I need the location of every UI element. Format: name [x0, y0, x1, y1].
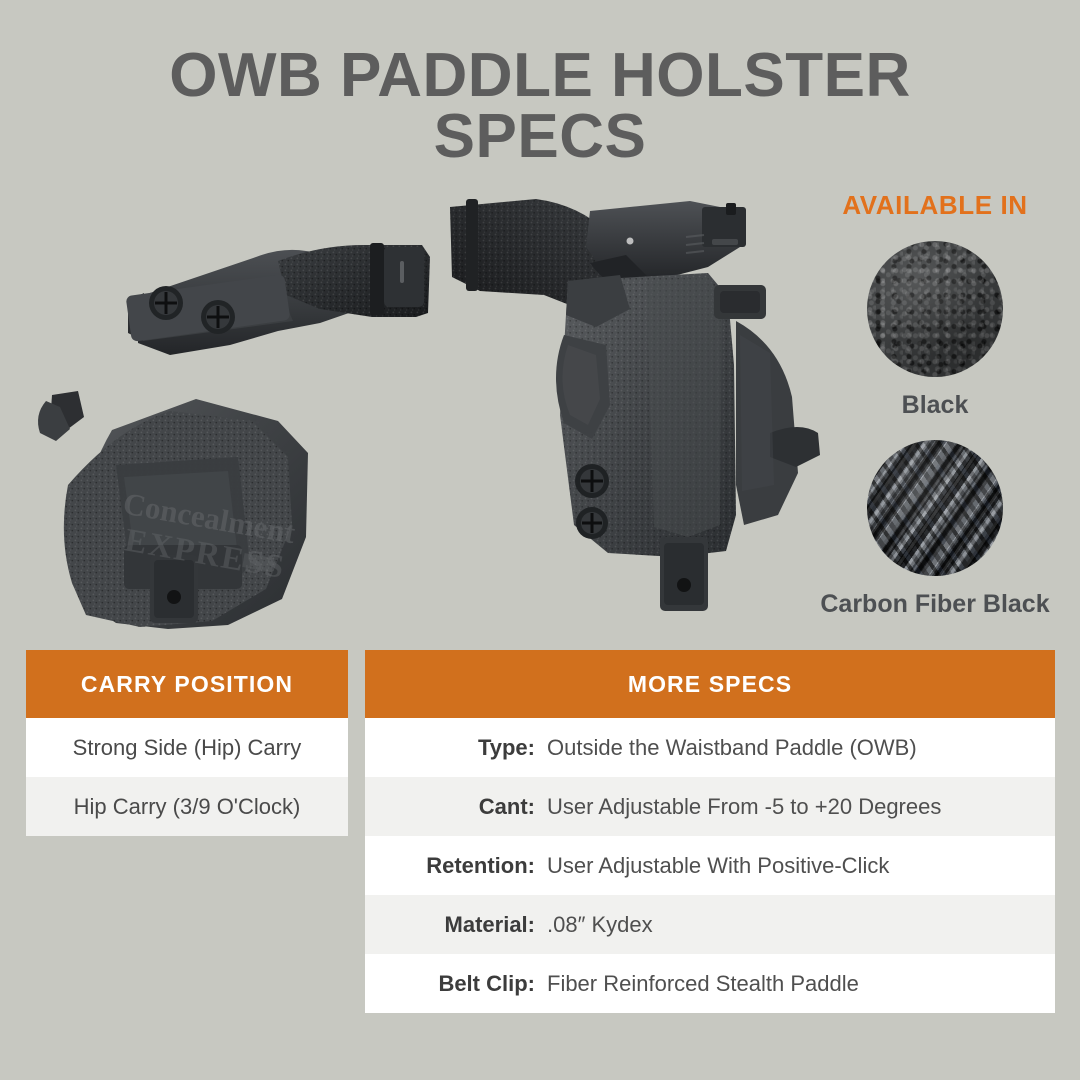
carry-position-header: CARRY POSITION	[26, 650, 348, 718]
table-row: Belt Clip: Fiber Reinforced Stealth Padd…	[365, 954, 1055, 1013]
table-row: Material: .08″ Kydex	[365, 895, 1055, 954]
more-specs-table: MORE SPECS Type: Outside the Waistband P…	[365, 650, 1055, 1013]
spec-key: Cant:	[365, 794, 547, 820]
spec-value: Fiber Reinforced Stealth Paddle	[547, 971, 1055, 997]
spec-value: .08″ Kydex	[547, 912, 1055, 938]
carry-position-value: Hip Carry (3/9 O'Clock)	[74, 794, 301, 820]
spec-value: User Adjustable With Positive-Click	[547, 853, 1055, 879]
table-row: Hip Carry (3/9 O'Clock)	[26, 777, 348, 836]
table-row: Type: Outside the Waistband Paddle (OWB)	[365, 718, 1055, 777]
spec-value: Outside the Waistband Paddle (OWB)	[547, 735, 1055, 761]
spec-key: Belt Clip:	[365, 971, 547, 997]
table-row: Strong Side (Hip) Carry	[26, 718, 348, 777]
more-specs-header: MORE SPECS	[365, 650, 1055, 718]
carry-position-value: Strong Side (Hip) Carry	[73, 735, 302, 761]
spec-key: Type:	[365, 735, 547, 761]
spec-value: User Adjustable From -5 to +20 Degrees	[547, 794, 1055, 820]
table-row: Cant: User Adjustable From -5 to +20 Deg…	[365, 777, 1055, 836]
table-row: Retention: User Adjustable With Positive…	[365, 836, 1055, 895]
spec-key: Material:	[365, 912, 547, 938]
spec-key: Retention:	[365, 853, 547, 879]
carry-position-table: CARRY POSITION Strong Side (Hip) Carry H…	[26, 650, 348, 836]
spec-tables: CARRY POSITION Strong Side (Hip) Carry H…	[0, 0, 1080, 1080]
